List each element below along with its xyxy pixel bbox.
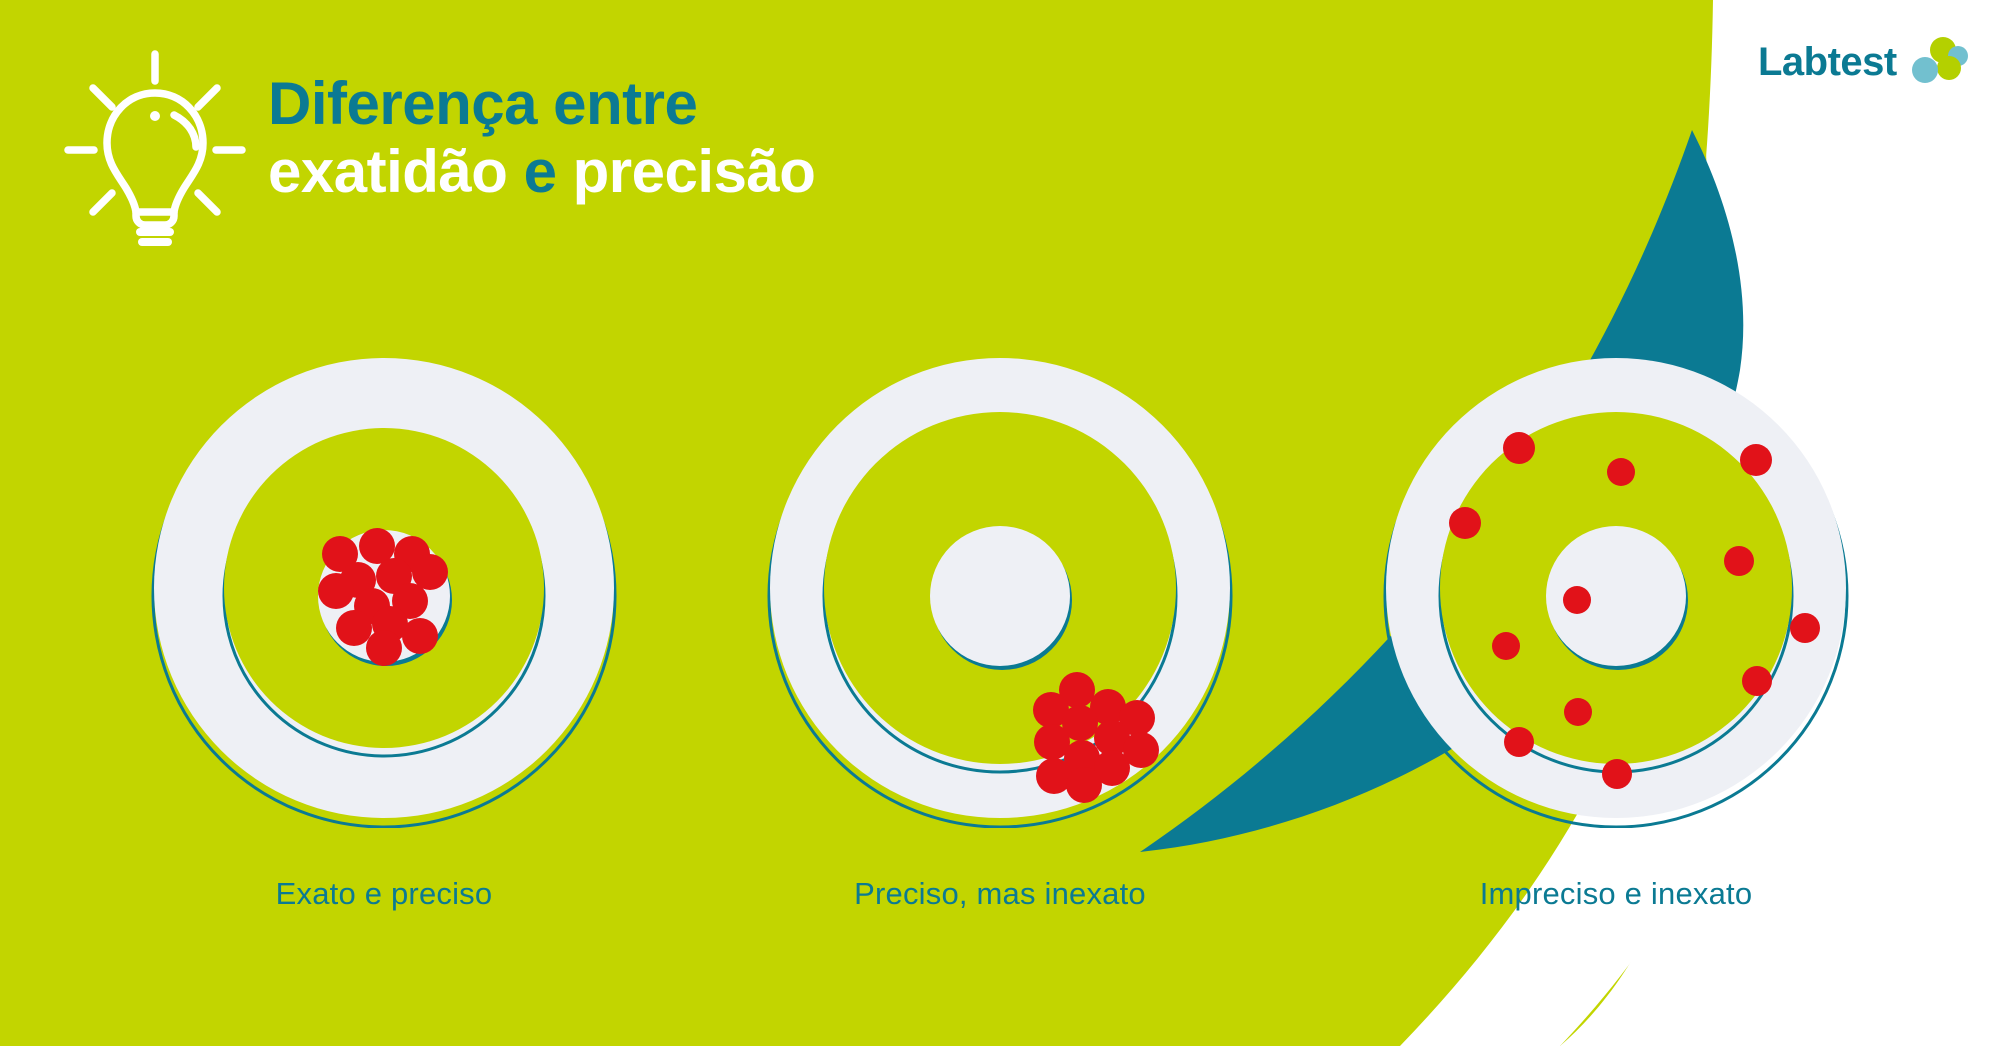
measurement-dot [1563,586,1591,614]
measurement-dot [1607,458,1635,486]
title-line-1: Diferença entre [268,74,815,134]
measurement-dot [1790,613,1820,643]
measurement-dot [1564,698,1592,726]
molecule-circles-icon [1907,36,1969,88]
target-caption-3: Impreciso e inexato [1480,876,1753,912]
title-line-2: exatidão e precisão [268,142,815,202]
measurement-dot [1742,666,1772,696]
targets-row: Exato e preciso Preciso, mas inexato [0,348,2000,968]
title-word-e: e [524,138,557,205]
measurement-dot [1602,759,1632,789]
measurement-dot [336,610,372,646]
measurement-dot [1492,632,1520,660]
measurement-dot [1724,546,1754,576]
page-title: Diferença entre exatidão e precisão [268,74,815,202]
measurement-dot [1503,432,1535,464]
target-impreciso-inexato [1376,348,1856,828]
brand-logo[interactable]: Labtest [1758,36,1969,88]
target-exato-preciso [144,348,624,828]
target-caption-2: Preciso, mas inexato [854,876,1146,912]
measurement-dot [1449,507,1481,539]
measurement-dot [1740,444,1772,476]
measurement-dot [1504,727,1534,757]
title-word-precisao: precisão [573,138,816,205]
measurement-dot [366,630,402,666]
infographic-root: Diferença entre exatidão e precisão Labt… [0,0,2000,1046]
header: Diferença entre exatidão e precisão [0,0,1100,260]
lightbulb-icon [60,46,250,246]
target-preciso-inexato [760,348,1240,828]
target-card-1: Exato e preciso [144,348,624,912]
target-caption-1: Exato e preciso [276,876,493,912]
target-card-3: Impreciso e inexato [1376,348,1856,912]
brand-name: Labtest [1758,40,1897,85]
title-word-exatidao: exatidão [268,138,507,205]
measurement-dot [402,618,438,654]
target-card-2: Preciso, mas inexato [760,348,1240,912]
measurement-dot [318,573,354,609]
measurement-dot [1066,767,1102,803]
